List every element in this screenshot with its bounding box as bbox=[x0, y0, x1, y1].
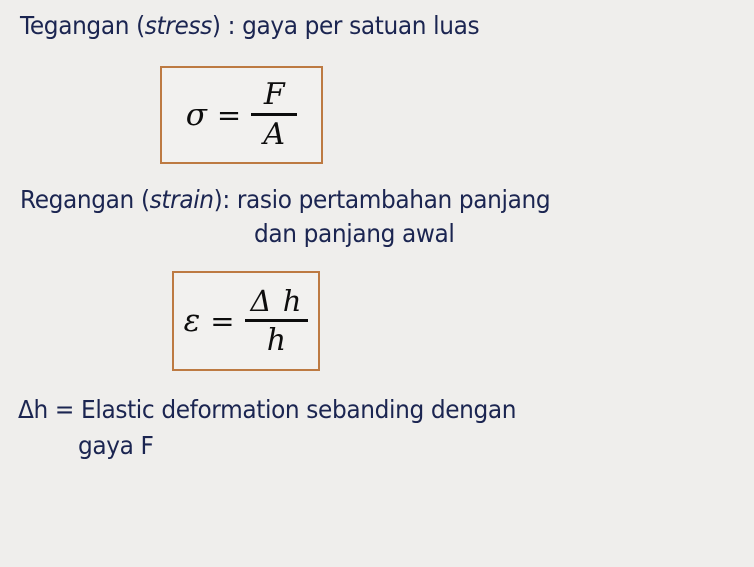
stress-definition-suffix: ) : gaya per satuan luas bbox=[212, 11, 479, 40]
strain-definition-line: Regangan (strain): rasio pertambahan pan… bbox=[20, 186, 550, 214]
stress-formula-box: σ = F A bbox=[160, 66, 323, 164]
fraction-denominator-h: h bbox=[261, 322, 292, 356]
stress-emphasis-word: stress bbox=[145, 11, 212, 40]
delta-h-note-line-2: gaya F bbox=[78, 432, 154, 460]
strain-definition-suffix: ): rasio pertambahan panjang bbox=[214, 185, 551, 214]
stress-definition-prefix: Tegangan ( bbox=[20, 11, 145, 40]
delta-h-over-h-fraction: Δ h h bbox=[245, 287, 309, 356]
fraction-numerator-delta-h: Δ h bbox=[245, 287, 309, 319]
epsilon-symbol: ε bbox=[184, 303, 205, 339]
strain-emphasis-word: strain bbox=[150, 185, 214, 214]
strain-definition-prefix: Regangan ( bbox=[20, 185, 150, 214]
strain-equation: ε = Δ h h bbox=[184, 287, 309, 356]
slide-canvas: Tegangan (stress) : gaya per satuan luas… bbox=[0, 0, 754, 567]
fraction-denominator-area: A bbox=[257, 116, 291, 150]
sigma-symbol: σ bbox=[186, 97, 211, 133]
fraction-numerator-force: F bbox=[258, 80, 291, 113]
equals-sign: = bbox=[211, 98, 251, 132]
strain-definition-line-2: dan panjang awal bbox=[254, 220, 454, 248]
stress-equation: σ = F A bbox=[186, 80, 297, 150]
stress-definition-line: Tegangan (stress) : gaya per satuan luas bbox=[20, 12, 479, 40]
force-over-area-fraction: F A bbox=[251, 80, 297, 150]
equals-sign: = bbox=[204, 304, 244, 338]
delta-h-note-line-1: Δh = Elastic deformation sebanding denga… bbox=[18, 396, 516, 424]
strain-formula-box: ε = Δ h h bbox=[172, 271, 320, 371]
